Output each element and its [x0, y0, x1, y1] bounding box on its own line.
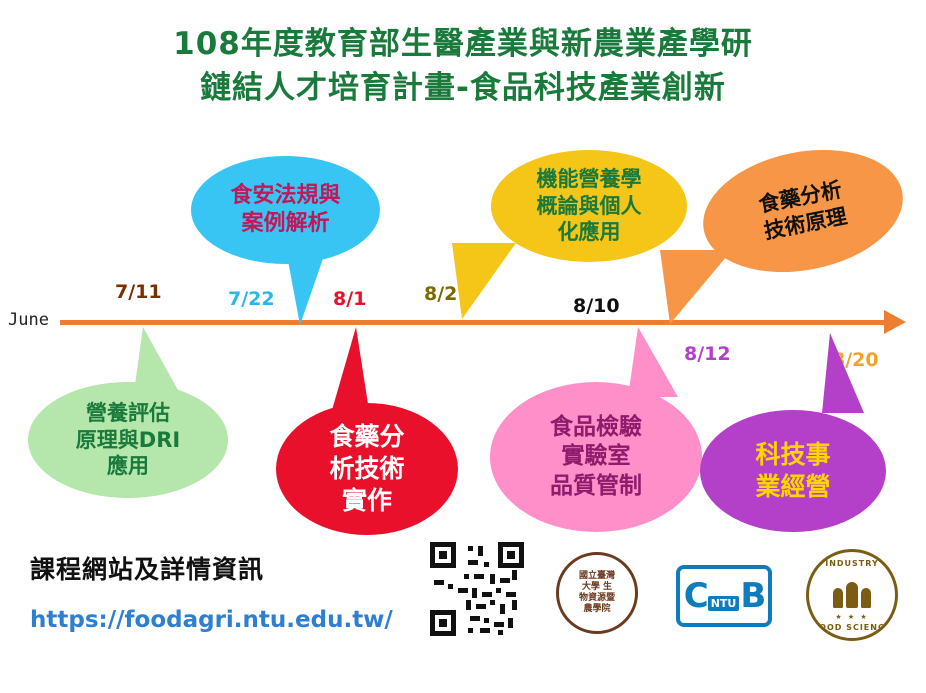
timeline-date-7-11: 7/11 — [115, 281, 162, 303]
bubble-tail-functional-nutrition — [452, 243, 516, 319]
timeline-arrow-icon — [884, 310, 906, 334]
ntu-logo: 國立臺灣大學 生物資源暨農學院 — [556, 552, 638, 634]
food-science-logo-stars: ★ ★ ★ — [809, 613, 895, 621]
bubble-functional-nutrition: 機能營養學 概論與個人 化應用 — [491, 150, 687, 262]
bubble-food-drug-analysis-practice: 食藥分 析技術 實作 — [276, 403, 458, 535]
bubble-nutrition-assessment: 營養評估 原理與DRI 應用 — [28, 382, 228, 498]
timeline-date-8-12: 8/12 — [684, 343, 731, 365]
bubble-food-drug-analysis-practice-text: 食藥分 析技術 實作 — [329, 421, 404, 517]
qr-eye-tl — [430, 542, 456, 568]
ntu-logo-text: 國立臺灣大學 生物資源暨農學院 — [578, 571, 616, 615]
food-science-logo-figures-icon — [833, 582, 871, 608]
course-website-link[interactable]: https://foodagri.ntu.edu.tw/ — [30, 607, 393, 633]
footer-label: 課程網站及詳情資訊 — [30, 550, 264, 586]
cb-logo-text: CNTUB — [684, 576, 765, 616]
food-science-logo-top-text: INDUSTRY — [809, 559, 895, 568]
timeline-date-8-1: 8/1 — [333, 288, 366, 310]
qr-eye-bl — [430, 610, 456, 636]
bubble-tail-food-safety-law — [286, 250, 326, 325]
qr-code[interactable] — [428, 540, 526, 638]
cb-logo-tag: NTU — [708, 596, 740, 611]
food-science-logo-bottom-text: FOOD SCIENCE — [809, 623, 895, 632]
bubble-nutrition-assessment-text: 營養評估 原理與DRI 應用 — [76, 400, 180, 481]
bubble-food-inspection-lab: 食品檢驗 實驗室 品質管制 — [490, 382, 702, 532]
timeline-date-7-22: 7/22 — [228, 288, 275, 310]
qr-eye-tr — [498, 542, 524, 568]
page-title: 108年度教育部生醫產業與新農業產學研 鏈結人才培育計畫-食品科技產業創新 — [0, 22, 926, 110]
timeline-start-label: June — [8, 310, 49, 330]
bubble-functional-nutrition-text: 機能營養學 概論與個人 化應用 — [537, 166, 642, 247]
timeline-axis — [60, 320, 890, 325]
bubble-tail-tech-business-management — [822, 333, 864, 413]
bubble-tech-business-management: 科技事 業經營 — [700, 410, 886, 532]
cb-logo: CNTUB — [676, 565, 772, 627]
food-science-logo: INDUSTRY ★ ★ ★ FOOD SCIENCE — [806, 549, 898, 641]
bubble-food-drug-analysis-principles-text: 食藥分析 技術原理 — [757, 177, 850, 246]
bubble-tech-business-management-text: 科技事 業經營 — [755, 439, 830, 503]
timeline-date-8-10: 8/10 — [573, 295, 620, 317]
poster-canvas: 108年度教育部生醫產業與新農業產學研 鏈結人才培育計畫-食品科技產業創新 Ju… — [0, 0, 926, 693]
bubble-tail-food-drug-analysis-principles — [660, 250, 732, 324]
bubble-food-inspection-lab-text: 食品檢驗 實驗室 品質管制 — [550, 413, 642, 501]
bubble-food-safety-law: 食安法規與 案例解析 — [191, 156, 380, 264]
bubble-food-safety-law-text: 食安法規與 案例解析 — [230, 182, 340, 238]
